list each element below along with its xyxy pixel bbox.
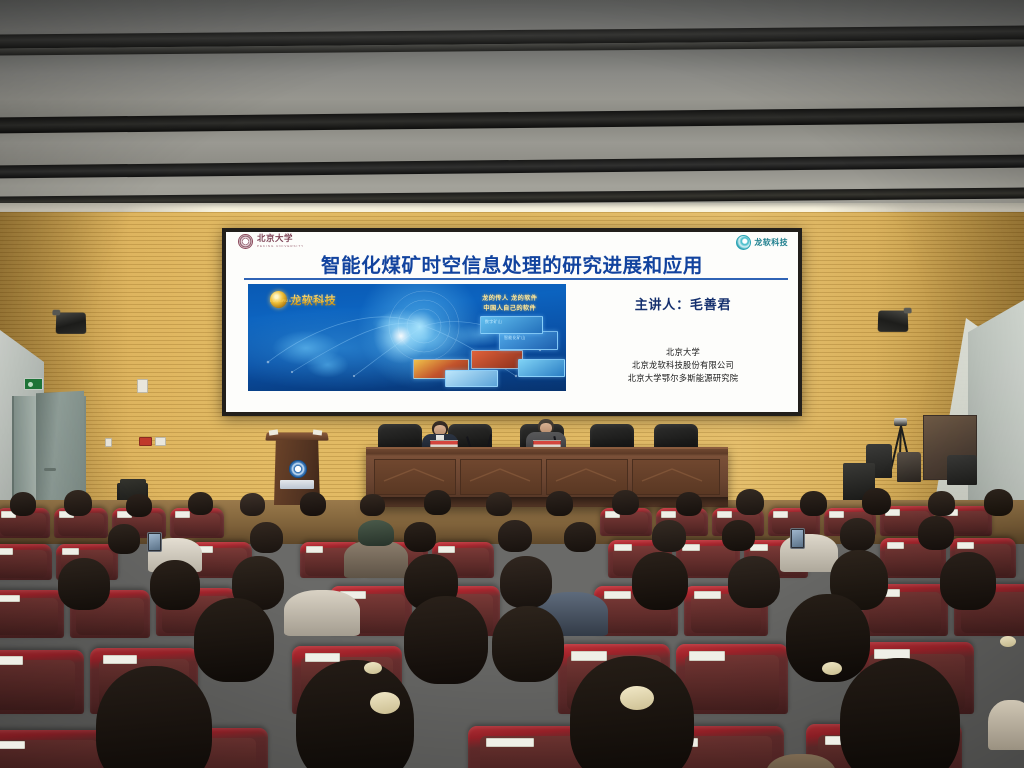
seat-number-label [62,548,79,555]
ceiling [0,0,1024,216]
projection-screen-frame: 北京大学 PEKING UNIVERSITY 龙软科技 智能化煤矿时空信息处理的… [222,228,802,416]
audience-head [424,490,451,515]
audience-head [570,656,694,768]
seat-number-label [829,511,843,518]
peking-university-logo: 北京大学 PEKING UNIVERSITY [238,234,304,249]
pku-logo-text: 北京大学 [257,235,304,244]
hair-clip [370,692,400,714]
banner-center-glow [373,308,429,364]
seat-number-label [717,511,731,518]
audience-head [360,494,385,516]
projection-screen: 北京大学 PEKING UNIVERSITY 龙软科技 智能化煤矿时空信息处理的… [226,232,798,412]
audience-head [728,556,780,608]
audience-head [108,524,140,554]
seat[interactable] [676,644,788,714]
seat-number-label [661,511,675,518]
audience-head [296,660,414,768]
seat-number-label [604,591,631,599]
audience-head [736,489,764,515]
audience-head [722,520,755,551]
audience-head [984,489,1013,516]
seat-number-label [773,511,787,518]
audience-head [840,658,960,768]
audience-head [800,491,827,516]
wall-switch-plate-lower [155,437,166,446]
peking-university-seal-icon [238,234,253,249]
audience-area [0,486,1024,768]
slide-speaker-label: 主讲人：毛善君 [578,294,788,313]
audience-head [126,494,152,517]
banner-brand-subtitle: LONGRUAN TECHNOLOGY [270,299,327,303]
audience-head [64,490,92,516]
hair-tie [364,662,382,674]
wall-speaker-left [56,313,87,334]
slide-title: 智能化煤矿时空信息处理的研究进展和应用 [226,249,798,278]
seat-number-label [305,653,340,662]
audience-head [150,560,200,610]
seat-number-label [175,511,190,518]
university-crest-icon [289,460,307,478]
audience-head [404,596,488,684]
seat-number-label [306,546,323,553]
banner-caption: 智能化矿山 [504,335,526,341]
wall-outlet [105,438,112,447]
banner-thumb [518,359,565,377]
seat-number-label [103,655,137,664]
pku-logo-subtitle: PEKING UNIVERSITY [257,244,304,248]
banner-thumb [471,350,524,369]
seat-number-label [571,651,607,661]
audience-head [486,492,512,516]
audience-head [188,492,213,515]
audience-shoulders [988,700,1024,750]
affiliation-1: 北京大学 [572,346,794,359]
slide-affiliations: 北京大学 北京龙软科技股份有限公司 北京大学鄂尔多斯能源研究院 [572,346,794,385]
audience-shoulders [780,534,838,572]
fire-alarm-icon [139,437,152,446]
seat-number-label [0,595,20,602]
seat-number-label [486,738,534,747]
seat-number-label [0,741,25,750]
seat-number-label [438,546,455,553]
audience-head [10,492,36,516]
auditorium-photo: 北京大学 PEKING UNIVERSITY 龙软科技 智能化煤矿时空信息处理的… [0,0,1024,768]
longruan-swirl-icon [736,235,751,250]
audience-head [492,606,564,682]
audience-head [612,490,639,515]
door-handle[interactable] [44,468,56,471]
wall-switch-plate-upper [137,379,148,393]
seat-number-label [0,548,13,555]
seat-number-label [694,591,721,599]
audience-shoulders [284,590,360,636]
audience-head [194,598,274,682]
hair-clip [620,686,654,710]
ceiling-beam-2 [0,106,1024,133]
longruan-logo: 龙软科技 [736,235,788,250]
table-chevron-pattern [366,463,728,487]
audience-head [676,492,702,516]
hair-tie [822,662,842,675]
seat-number-label [0,656,23,665]
banner-thumb [445,370,498,387]
audience-head [632,552,688,610]
audience-head [840,518,875,551]
seat-number-label [689,651,725,661]
seat-number-label [682,544,699,551]
longruan-logo-text: 龙软科技 [754,237,788,248]
affiliation-2: 北京龙软科技股份有限公司 [572,359,794,372]
exit-sign-icon [24,378,43,390]
audience-head [96,666,212,768]
slide-body: 龙软科技 LONGRUAN TECHNOLOGY 龙的传人 龙的软件 中国人自己… [226,284,798,409]
audience-head [918,516,954,550]
audience-head [498,520,532,552]
banner-slogan-line2: 中国人自己的软件 [482,304,537,315]
audience-head [58,558,110,610]
side-chair [947,455,977,485]
camera-icon [894,418,907,426]
audience-head [546,491,573,516]
affiliation-3: 北京大学鄂尔多斯能源研究院 [572,372,794,385]
side-chair [897,452,921,482]
audience-head [928,491,955,516]
podium-paper [313,429,323,435]
audience-head [564,522,596,552]
banner-slogan: 龙的传人 龙的软件 中国人自己的软件 [482,294,537,316]
seat-number-label [887,542,905,549]
longruan-banner-image: 龙软科技 LONGRUAN TECHNOLOGY 龙的传人 龙的软件 中国人自己… [248,284,566,391]
audience-head-with-cap [358,520,394,546]
wall-speaker-right [878,311,909,332]
seat[interactable] [0,650,84,714]
audience-head [652,520,686,552]
audience-head [404,522,436,552]
seat-number-label [614,544,631,551]
ceiling-beam-3 [0,154,1024,178]
audience-head [940,552,996,610]
smartphone[interactable] [147,532,162,552]
banner-caption: 数字矿山 [485,319,502,325]
banner-slogan-line1: 龙的传人 龙的软件 [482,294,537,305]
hair-tie [1000,636,1016,647]
seat[interactable] [0,590,64,638]
audience-head [240,493,265,516]
audience-head [862,488,891,515]
seat[interactable] [0,544,52,580]
seat-number-label [957,542,975,549]
audience-head [500,556,552,608]
seat[interactable] [0,730,110,768]
audience-head [300,492,326,516]
smartphone[interactable] [790,528,805,549]
audience-head [250,522,283,553]
slide-title-rule [244,278,788,280]
